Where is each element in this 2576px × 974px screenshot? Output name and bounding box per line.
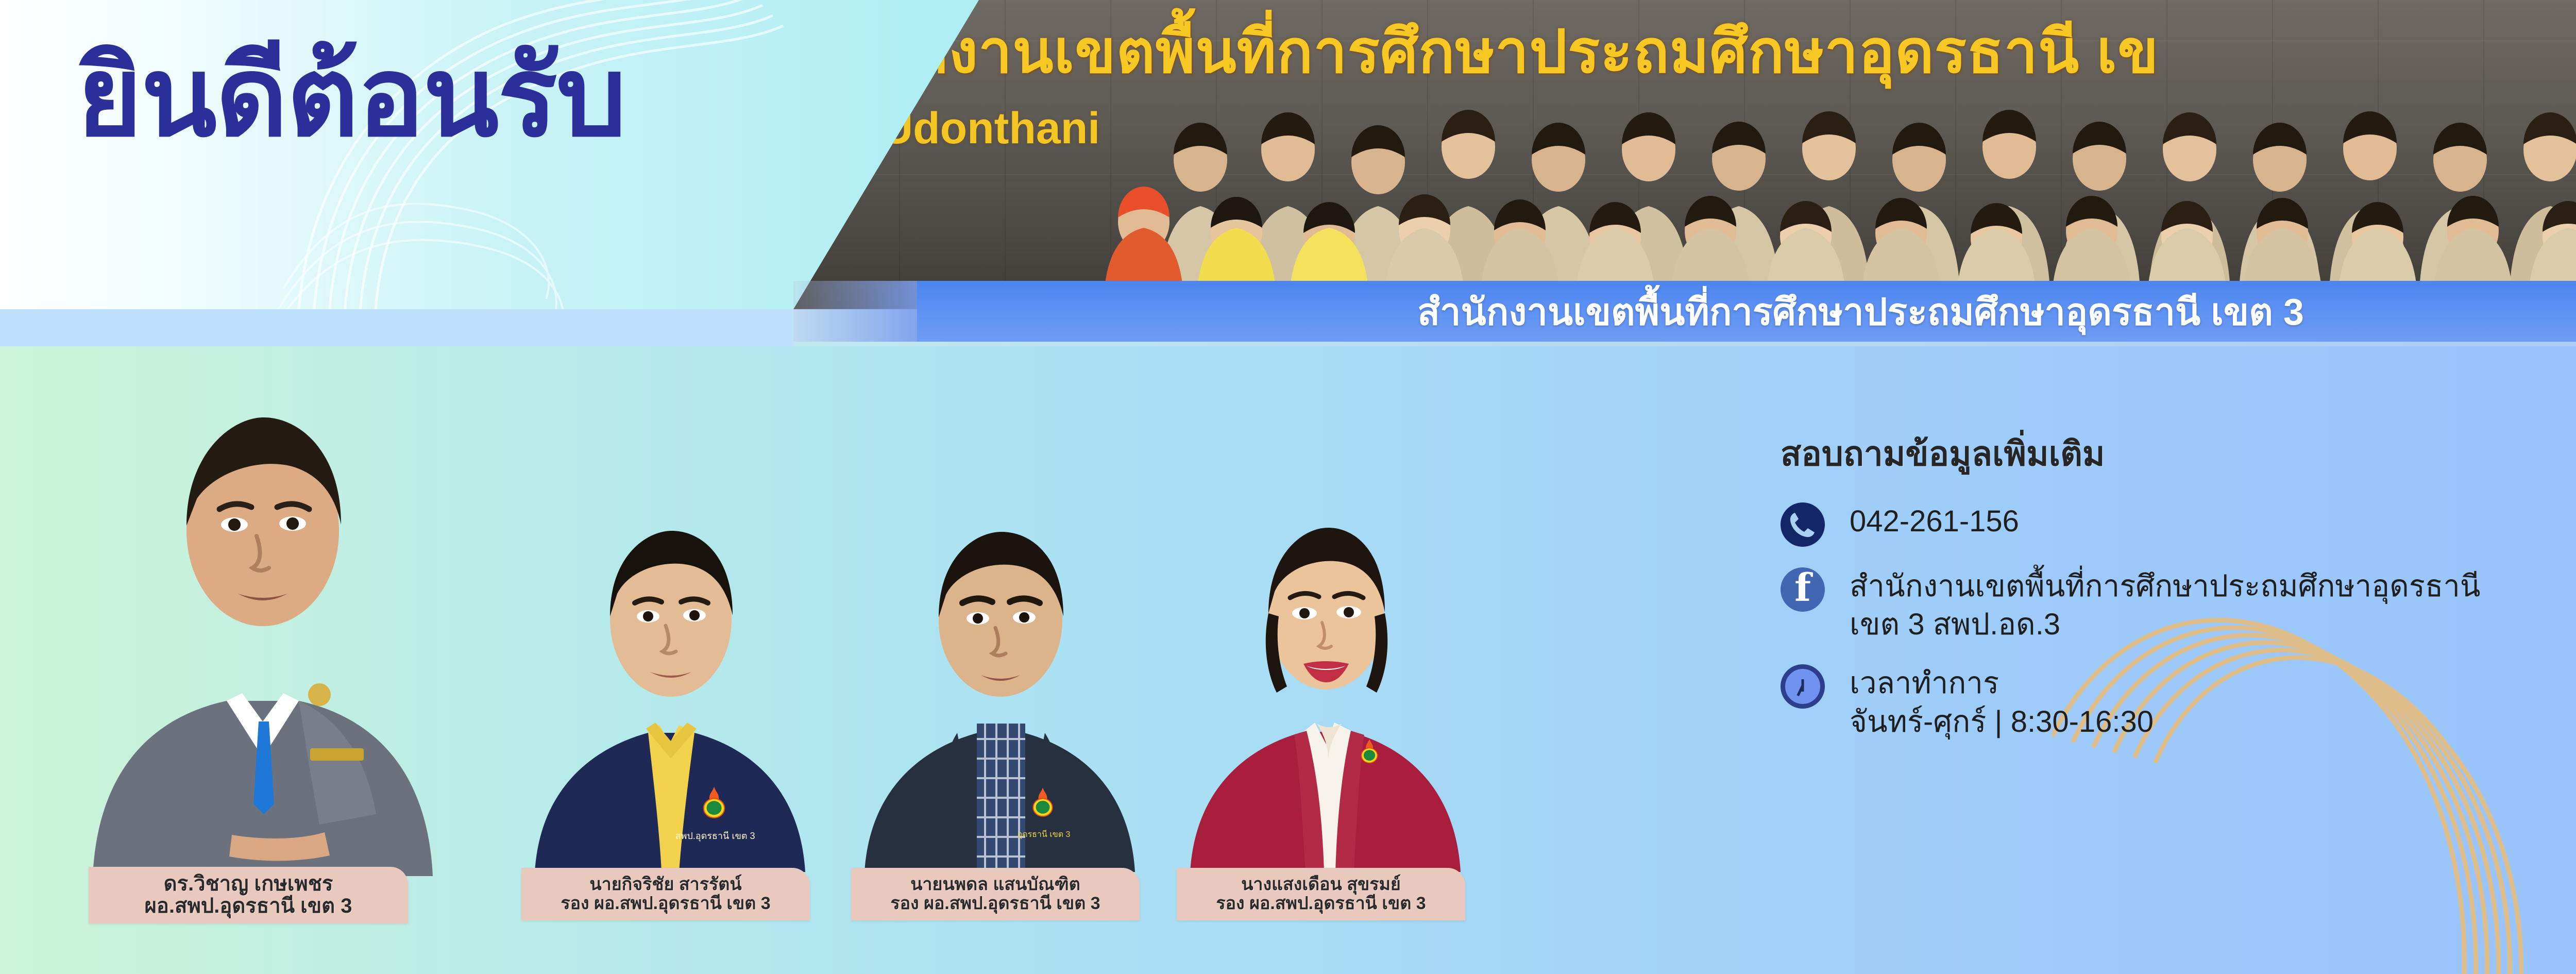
executive-portrait-3: อุดรธานี เขต 3 [854,491,1143,872]
executive-portrait-1 [77,361,438,876]
office-name-banner: สำนักงานเขตพื้นที่การศึกษาประถมศึกษาอุดร… [917,281,2576,342]
executive-nameplate-3: นายนพดล แสนบัณฑิต รอง ผอ.สพป.อุดรธานี เข… [851,868,1140,920]
facebook-icon: f [1781,567,1825,612]
executive-name-4: นางแสงเดือน สุขรมย์ [1241,875,1401,894]
contact-row-facebook[interactable]: f สำนักงานเขตพื้นที่การศึกษาประถมศึกษาอุ… [1781,567,2576,644]
executive-name-2: นายกิจริชัย สารรัตน์ [589,875,741,894]
executive-title-1: ผอ.สพป.อุดรธานี เขต 3 [144,895,352,917]
contact-row-hours: เวลาทำการ จันทร์-ศุกร์ | 8:30-16:30 [1781,664,2576,741]
contact-info-block: สอบถามข้อมูลเพิ่มเติม 042-261-156 f สำนั… [1781,427,2576,762]
executive-title-3: รอง ผอ.สพป.อุดรธานี เขต 3 [890,894,1100,913]
executive-name-1: ดร.วิชาญ เกษเพชร [164,873,333,895]
office-hours-label: เวลาทำการ [1850,664,2154,702]
banner-left-fade [793,281,922,342]
building-sign-english: Udonthani [881,103,1100,154]
executive-nameplate-1: ดร.วิชาญ เกษเพชร ผอ.สพป.อุดรธานี เขต 3 [89,867,408,923]
office-hours-value: จันทร์-ศุกร์ | 8:30-16:30 [1850,703,2154,741]
uniform-badge-text-2: สพป.อุดรธานี เขต 3 [675,831,755,842]
facebook-page-line2: เขต 3 สพป.อด.3 [1850,606,2481,644]
uniform-badge-text-3: อุดรธานี เขต 3 [1018,830,1071,839]
clock-icon [1781,664,1825,709]
facebook-page-line1: สำนักงานเขตพื้นที่การศึกษาประถมศึกษาอุดร… [1850,567,2481,606]
executive-nameplate-2: นายกิจริชัย สารรัตน์ รอง ผอ.สพป.อุดรธานี… [521,868,810,920]
phone-number: 042-261-156 [1850,502,2019,541]
phone-icon [1781,502,1825,547]
executive-title-2: รอง ผอ.สพป.อุดรธานี เขต 3 [561,894,770,913]
executive-portrait-2: สพป.อุดรธานี เขต 3 [524,491,813,872]
contact-row-phone[interactable]: 042-261-156 [1781,502,2576,547]
hero-top-band: นักงานเขตพื้นที่การศึกษาประถมศึกษาอุดรธา… [0,0,2576,309]
contact-heading: สอบถามข้อมูลเพิ่มเติม [1781,427,2576,481]
office-name-banner-text: สำนักงานเขตพื้นที่การศึกษาประถมศึกษาอุดร… [1417,282,2304,341]
welcome-heading: ยินดีต้อนรับ [77,41,625,152]
staff-crowd [1082,82,2576,309]
welcome-banner-graphic: นักงานเขตพื้นที่การศึกษาประถมศึกษาอุดรธา… [0,0,2576,974]
executive-portrait-4 [1180,491,1468,872]
purple-floral-decoration [2566,26,2576,232]
office-group-photo: นักงานเขตพื้นที่การศึกษาประถมศึกษาอุดรธา… [793,0,2576,309]
executive-nameplate-4: นางแสงเดือน สุขรมย์ รอง ผอ.สพป.อุดรธานี … [1177,868,1465,920]
executive-title-4: รอง ผอ.สพป.อุดรธานี เขต 3 [1216,894,1426,913]
executive-name-3: นายนพดล แสนบัณฑิต [910,875,1080,894]
